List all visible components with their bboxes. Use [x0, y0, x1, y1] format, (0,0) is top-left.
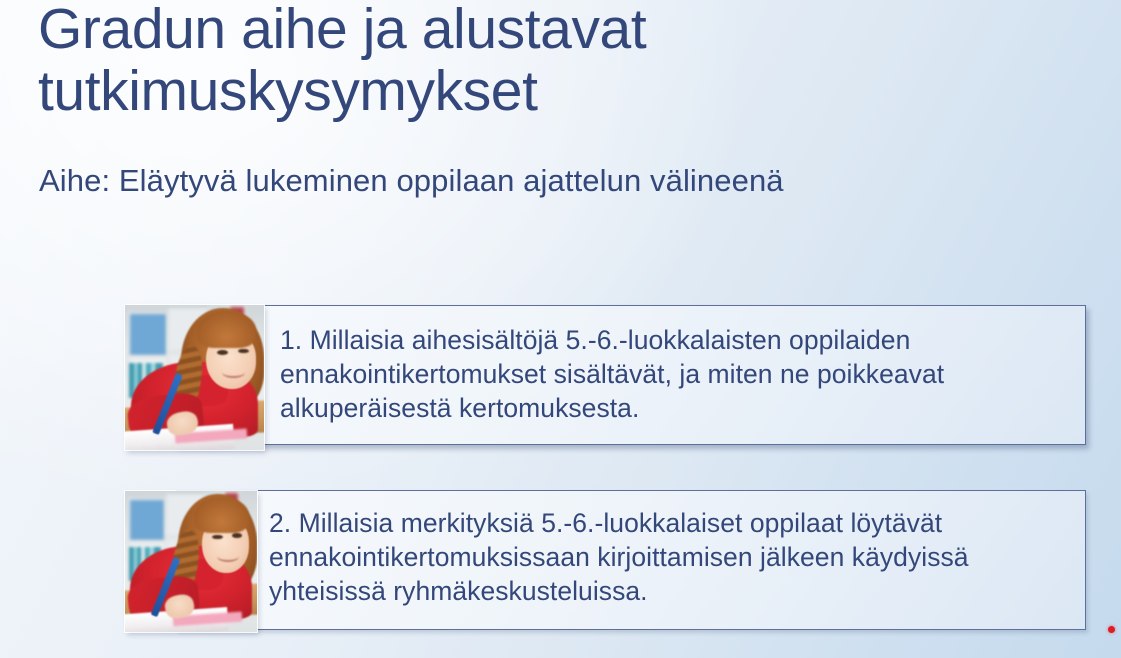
photo-content	[125, 491, 257, 632]
page-title: Gradun aihe ja alustavat tutkimuskysymyk…	[38, 0, 1038, 122]
question-1-photo	[125, 305, 264, 450]
question-card-1-text: 1. Millaisia aihesisältöjä 5.-6.-luokkal…	[280, 323, 1070, 425]
red-marker-dot	[1108, 626, 1115, 633]
question-card-2: 2. Millaisia merkityksiä 5.-6.-luokkalai…	[176, 490, 1086, 630]
presentation-slide: Gradun aihe ja alustavat tutkimuskysymyk…	[0, 0, 1121, 658]
title-block: Gradun aihe ja alustavat tutkimuskysymyk…	[38, 0, 1038, 122]
question-card-1: 1. Millaisia aihesisältöjä 5.-6.-luokkal…	[176, 305, 1086, 445]
photo-content	[125, 305, 264, 450]
photo-blur-overlay	[125, 305, 264, 450]
photo-blur-overlay	[125, 491, 257, 632]
question-card-2-text: 2. Millaisia merkityksiä 5.-6.-luokkalai…	[269, 506, 1077, 608]
slide-subtitle: Aihe: Eläytyvä lukeminen oppilaan ajatte…	[39, 161, 784, 201]
question-2-photo	[125, 491, 257, 632]
